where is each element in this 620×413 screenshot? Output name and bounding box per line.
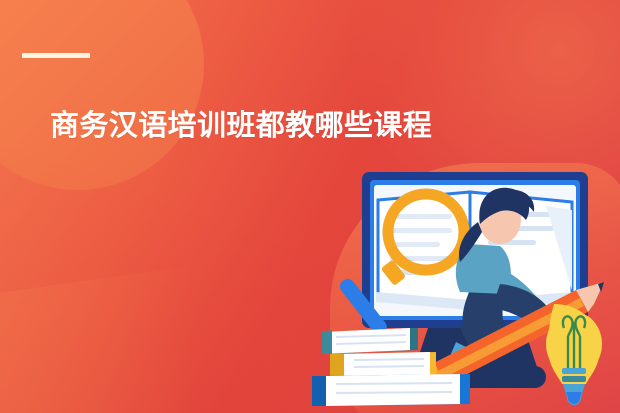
page-title: 商务汉语培训班都教哪些课程 — [50, 106, 432, 146]
title-accent-rule — [22, 53, 90, 58]
promo-banner: 商务汉语培训班都教哪些课程 — [0, 0, 620, 413]
lightbulb-icon — [546, 304, 602, 405]
online-learning-illustration — [310, 170, 620, 413]
